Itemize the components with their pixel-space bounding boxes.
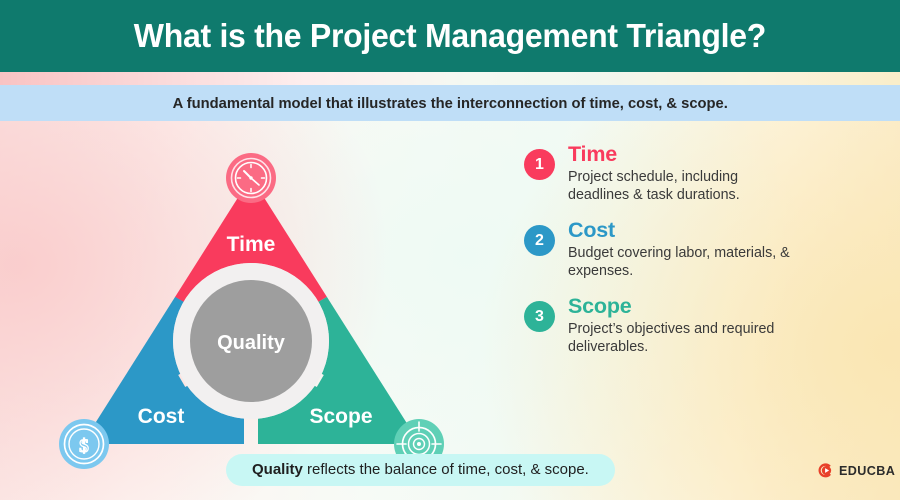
triangle-label-cost: Cost — [138, 405, 185, 428]
list-item-title-cost: Cost — [568, 219, 798, 242]
list-item-title-time: Time — [568, 143, 798, 166]
triangle-label-time: Time — [227, 233, 276, 256]
page-title: What is the Project Management Triangle? — [134, 17, 766, 55]
concept-list: 1 Time Project schedule, including deadl… — [524, 143, 884, 371]
list-item-body: Time Project schedule, including deadlin… — [568, 143, 798, 204]
dollar-coin-icon[interactable]: $ — [59, 419, 109, 469]
list-item: 2 Cost Budget covering labor, materials,… — [524, 219, 884, 280]
badge-number-3: 3 — [524, 301, 555, 332]
subtitle-text: A fundamental model that illustrates the… — [172, 95, 727, 112]
list-item-body: Cost Budget covering labor, materials, &… — [568, 219, 798, 280]
educba-play-circle-icon — [817, 462, 834, 479]
list-item: 1 Time Project schedule, including deadl… — [524, 143, 884, 204]
footer-note-pill: Quality reflects the balance of time, co… — [226, 454, 615, 486]
triangle-label-scope: Scope — [309, 405, 372, 428]
svg-text:$: $ — [79, 436, 89, 457]
list-item-description-time: Project schedule, including deadlines & … — [568, 168, 798, 204]
center-quality-label: Quality — [217, 332, 286, 354]
header-accent-strip — [0, 72, 900, 85]
list-item-description-scope: Project’s objectives and required delive… — [568, 320, 798, 356]
list-item-title-scope: Scope — [568, 295, 798, 318]
clock-icon[interactable] — [226, 153, 276, 203]
badge-number-1: 1 — [524, 149, 555, 180]
footer-note-lead: Quality — [252, 461, 303, 478]
project-triangle-diagram: Quality Time Cost Scope — [55, 141, 475, 481]
educba-logo[interactable]: EDUCBA — [817, 462, 895, 479]
footer-note-text: Quality reflects the balance of time, co… — [252, 461, 589, 478]
list-item-body: Scope Project’s objectives and required … — [568, 295, 798, 356]
infographic-page: What is the Project Management Triangle?… — [0, 0, 900, 500]
main-canvas: Quality Time Cost Scope — [0, 121, 900, 500]
header-bar: What is the Project Management Triangle? — [0, 0, 900, 72]
footer-note-rest: reflects the balance of time, cost, & sc… — [303, 461, 589, 478]
list-item: 3 Scope Project’s objectives and require… — [524, 295, 884, 356]
list-item-description-cost: Budget covering labor, materials, & expe… — [568, 244, 798, 280]
subtitle-band: A fundamental model that illustrates the… — [0, 85, 900, 121]
badge-number-2: 2 — [524, 225, 555, 256]
educba-wordmark: EDUCBA — [839, 464, 895, 478]
